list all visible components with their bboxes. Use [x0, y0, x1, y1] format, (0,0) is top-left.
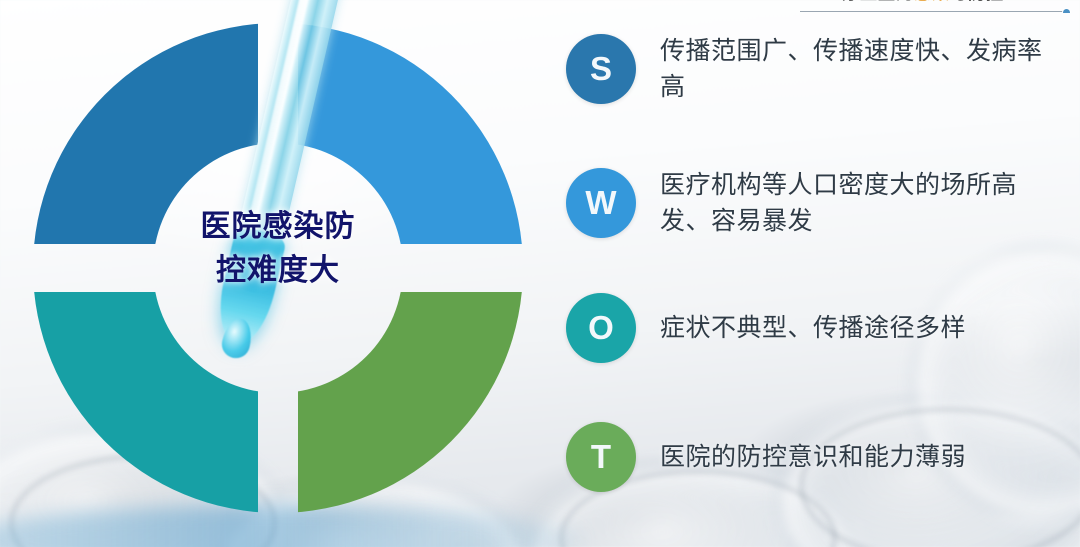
clipped-header-title-lead: 医疗卫生的 [824, 0, 914, 3]
swot-badge-s: S [566, 34, 636, 104]
swot-badge-w: W [566, 168, 636, 238]
swot-item-t[interactable]: T 医院的防控意识和能力薄弱 [560, 416, 1080, 498]
swot-text-s: 传播范围广、传播速度快、发病率高 [660, 33, 1060, 106]
swot-badge-o: O [566, 293, 636, 363]
swot-text-w: 医疗机构等人口密度大的场所高发、容易暴发 [660, 167, 1060, 240]
donut-segment-bottom-right [278, 268, 560, 547]
donut-center-label-line2: 控难度大 [150, 249, 406, 293]
swot-item-o[interactable]: O 症状不典型、传播途径多样 [560, 287, 1080, 369]
donut-center-label: 医院感染防 控难度大 [150, 205, 406, 292]
swot-text-t: 医院的防控意识和能力薄弱 [660, 439, 966, 475]
clipped-header-strip: 医疗卫生的感染与防控 [0, 0, 1080, 13]
donut-segment-bottom-left [0, 268, 278, 547]
textbox-resize-handle[interactable] [1062, 8, 1071, 13]
donut-center-label-line1: 医院感染防 [150, 205, 406, 249]
slide-canvas: 医院感染防 控难度大 S 传播范围广、传播速度快、发病率高 W 医疗机构等人口密… [0, 0, 1080, 547]
swot-item-s[interactable]: S 传播范围广、传播速度快、发病率高 [560, 24, 1080, 114]
clipped-header-title: 医疗卫生的感染与防控 [824, 0, 1004, 4]
swot-list: S 传播范围广、传播速度快、发病率高 W 医疗机构等人口密度大的场所高发、容易暴… [560, 0, 1080, 547]
clipped-header-title-tail: 与防控 [950, 0, 1004, 3]
swot-item-w[interactable]: W 医疗机构等人口密度大的场所高发、容易暴发 [560, 158, 1080, 248]
header-divider-rule [800, 11, 1066, 12]
clipped-header-title-highlight: 感染 [914, 0, 950, 3]
swot-text-o: 症状不典型、传播途径多样 [660, 310, 966, 346]
swot-badge-t: T [566, 422, 636, 492]
